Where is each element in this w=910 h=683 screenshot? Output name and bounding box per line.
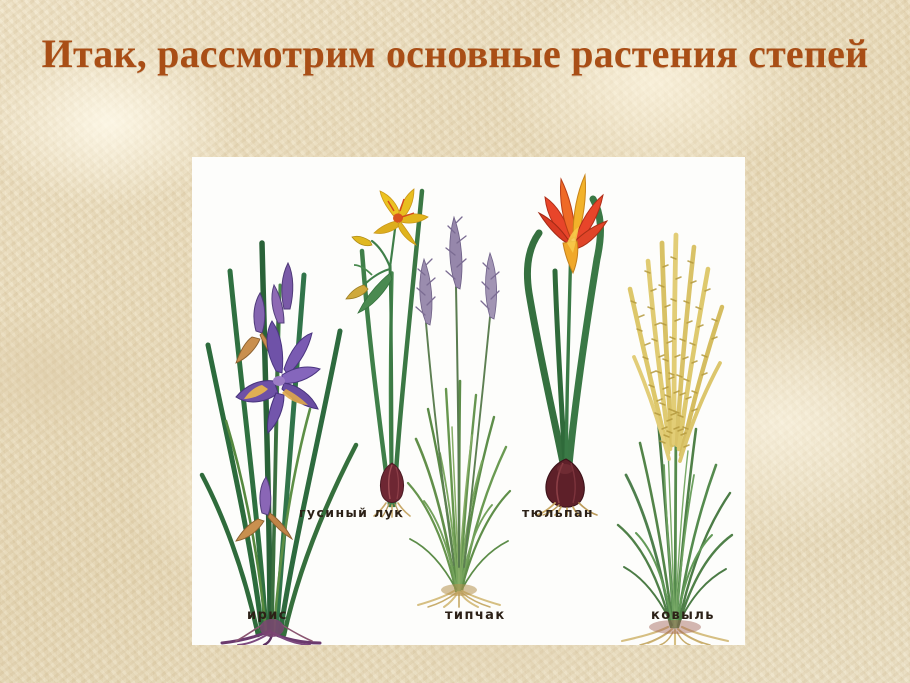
slide-canvas: Итак, рассмотрим основные растения степе… xyxy=(0,0,910,683)
plant-iris xyxy=(200,213,360,645)
plant-label-tulip: тюльпан xyxy=(522,505,594,520)
fescue-spikelet-center xyxy=(446,217,466,289)
plant-tulip xyxy=(517,163,617,515)
iris-bud-upper xyxy=(272,263,293,323)
plant-fescue xyxy=(404,195,514,607)
plants-illustration-panel: ирис xyxy=(192,157,745,645)
goose-onion-bud xyxy=(346,236,372,299)
fescue-spikelet-left xyxy=(416,259,435,325)
plant-feather-grass xyxy=(612,213,737,645)
plant-label-goose-onion: гусиный лук xyxy=(299,505,404,520)
plant-label-iris: ирис xyxy=(247,608,288,623)
page-title: Итак, рассмотрим основные растения степе… xyxy=(0,26,910,83)
plant-label-fescue: типчак xyxy=(445,608,506,623)
tulip-bulb xyxy=(546,459,584,507)
plant-label-feather-grass: ковыль xyxy=(651,608,715,623)
feather-grass-plumes xyxy=(630,235,722,461)
fescue-spikelet-right xyxy=(481,253,499,319)
